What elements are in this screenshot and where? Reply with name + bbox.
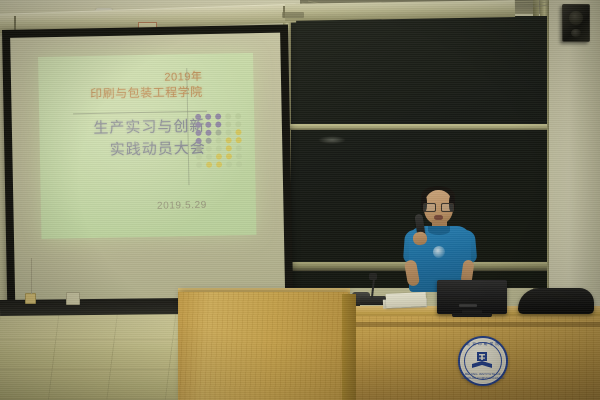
slide-dot <box>206 146 212 152</box>
roller-label <box>282 12 304 18</box>
slide-dot <box>215 113 221 119</box>
screen-hanger-right <box>283 6 285 18</box>
wall-outlet-yellow[interactable] <box>25 293 36 304</box>
speaker-cone-icon <box>569 11 583 25</box>
slide-title-line-1: 生产实习与创新 <box>59 116 205 141</box>
slide-dot <box>226 161 232 167</box>
desk-shadow-band <box>348 322 600 327</box>
slide-dot <box>235 113 241 119</box>
slide-dot <box>195 114 201 120</box>
slide-dot <box>216 153 222 159</box>
seal-book-icon <box>471 351 493 370</box>
slide-dot <box>225 129 231 135</box>
slide-dot <box>236 145 242 151</box>
slide-dot <box>226 153 232 159</box>
screen-hanger-left <box>14 16 16 30</box>
slide-dot <box>235 121 241 127</box>
slide-dot <box>216 161 222 167</box>
university-seal: 北 京 印 刷 学 院 BEIJING INSTITUTE OF GRAPHIC… <box>458 336 508 386</box>
slide-dot <box>196 146 202 152</box>
slide-dot-grid-decoration <box>195 113 244 168</box>
lectern-side-panel <box>342 294 356 400</box>
slide-dot <box>226 137 232 143</box>
slide-dot <box>236 137 242 143</box>
slide-dot <box>196 138 202 144</box>
slide-dot <box>215 129 221 135</box>
lectern <box>178 292 348 400</box>
slide-dot <box>236 153 242 159</box>
slide-dot <box>196 162 202 168</box>
slide-dot <box>216 145 222 151</box>
slide-dot <box>236 161 242 167</box>
slide-dot <box>206 138 212 144</box>
slide-dot <box>205 114 211 120</box>
speaker-tweeter-icon <box>571 29 581 37</box>
monitor-base <box>452 313 492 317</box>
slide-department: 印刷与包装工程学院 <box>51 84 203 104</box>
papers-stack <box>386 292 427 308</box>
slide-date: 2019.5.29 <box>101 200 207 213</box>
backpack <box>518 288 594 314</box>
seal-text-top: 北 京 印 刷 学 院 <box>460 342 506 347</box>
gooseneck-mic-head-icon <box>369 273 377 280</box>
slide-dot <box>195 122 201 128</box>
presenter-eyeglasses-icon <box>423 203 454 210</box>
slide-dot <box>195 130 201 136</box>
slide-header: 2019年 印刷与包装工程学院 <box>50 70 203 104</box>
lecture-hall-photo: 2019年 印刷与包装工程学院 生产实习与创新 实践动员大会 2019.5.29 <box>0 0 600 400</box>
slide-dot <box>206 154 212 160</box>
slide-dot <box>235 129 241 135</box>
monitor-logo-icon <box>459 304 477 307</box>
slide-dot <box>226 145 232 151</box>
wall-outlet[interactable] <box>66 292 80 305</box>
wall-conduit <box>31 258 32 294</box>
seal-text-bottom: BEIJING INSTITUTE OF GRAPHIC COMMUNICATI… <box>460 372 506 380</box>
slide-dot <box>205 122 211 128</box>
slide-dot <box>215 121 221 127</box>
right-wall-panel <box>548 0 600 330</box>
slide-dot <box>206 162 212 168</box>
chalk-smudge <box>318 136 346 144</box>
slide-dot <box>225 121 231 127</box>
blackboard-rail <box>289 124 547 130</box>
desktop-monitor[interactable] <box>437 280 507 314</box>
slide-dot <box>225 113 231 119</box>
slide-dot <box>205 130 211 136</box>
shirt-logo-icon <box>433 246 445 258</box>
slide-title-line-2: 实践动员大会 <box>60 138 206 163</box>
slide-dot <box>216 137 222 143</box>
slide-dot <box>196 154 202 160</box>
wall-speaker <box>562 4 590 42</box>
lectern-wood-grain <box>178 292 348 400</box>
presenter-collar <box>428 226 450 235</box>
slide-title: 生产实习与创新 实践动员大会 <box>59 116 206 163</box>
projected-slide: 2019年 印刷与包装工程学院 生产实习与创新 实践动员大会 2019.5.29 <box>38 53 256 239</box>
